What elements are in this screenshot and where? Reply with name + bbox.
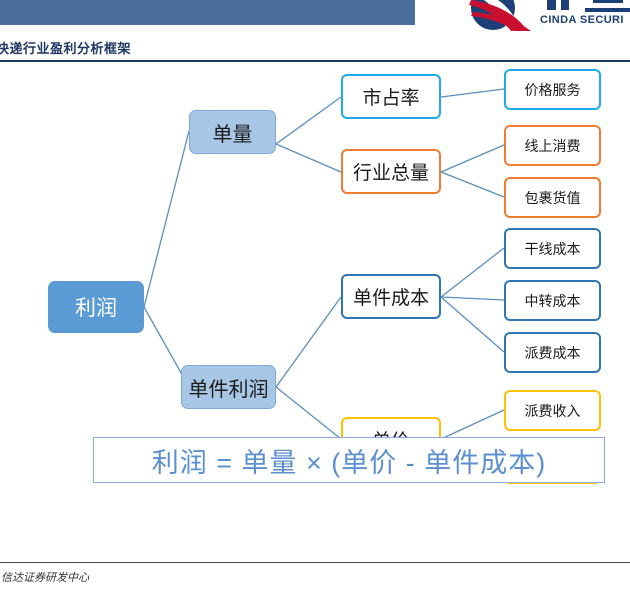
page-title: 快递行业盈利分析框架 (0, 38, 131, 57)
node-delivery-revenue[interactable]: 派费收入 (504, 390, 601, 431)
node-market-share-label: 市占率 (362, 83, 419, 110)
node-parcel-value-label: 包裹货值 (525, 188, 581, 208)
node-delivery-cost-label: 派费成本 (525, 343, 581, 363)
node-profit[interactable]: 利润 (48, 281, 144, 333)
profit-formula-box: 利润 = 单量 × (单价 - 单件成本) (93, 437, 605, 483)
source-note: ：信达证券研发中心 (0, 569, 89, 585)
slide-canvas: CINDA SECURI 快递行业盈利分析框架 (0, 0, 630, 589)
header-accent-bar (0, 0, 415, 25)
logo-latin-text: CINDA SECURI (540, 14, 624, 26)
node-profit-label: 利润 (75, 292, 117, 322)
node-delivery-revenue-label: 派费收入 (525, 401, 581, 421)
node-trunk-cost[interactable]: 干线成本 (504, 228, 601, 269)
node-unit-profit-label: 单件利润 (189, 373, 269, 402)
node-industry-total[interactable]: 行业总量 (341, 149, 441, 194)
node-unit-cost[interactable]: 单件成本 (341, 274, 441, 319)
node-industry-total-label: 行业总量 (353, 158, 429, 185)
node-online-consumption[interactable]: 线上消费 (504, 125, 601, 166)
node-unit-profit[interactable]: 单件利润 (181, 365, 276, 409)
node-price-service-label: 价格服务 (525, 80, 581, 100)
node-online-consumption-label: 线上消费 (525, 136, 581, 156)
footer-divider (0, 562, 630, 563)
node-price-service[interactable]: 价格服务 (504, 69, 601, 110)
node-order-volume[interactable]: 单量 (189, 110, 276, 154)
profit-formula-text: 利润 = 单量 × (单价 - 单件成本) (152, 441, 547, 480)
node-trunk-cost-label: 干线成本 (525, 239, 581, 259)
node-transfer-cost[interactable]: 中转成本 (504, 280, 601, 321)
node-delivery-cost[interactable]: 派费成本 (504, 332, 601, 373)
node-transfer-cost-label: 中转成本 (525, 291, 581, 311)
node-parcel-value[interactable]: 包裹货值 (504, 177, 601, 218)
node-market-share[interactable]: 市占率 (341, 74, 441, 119)
node-order-volume-label: 单量 (213, 118, 253, 147)
node-unit-cost-label: 单件成本 (353, 283, 429, 310)
